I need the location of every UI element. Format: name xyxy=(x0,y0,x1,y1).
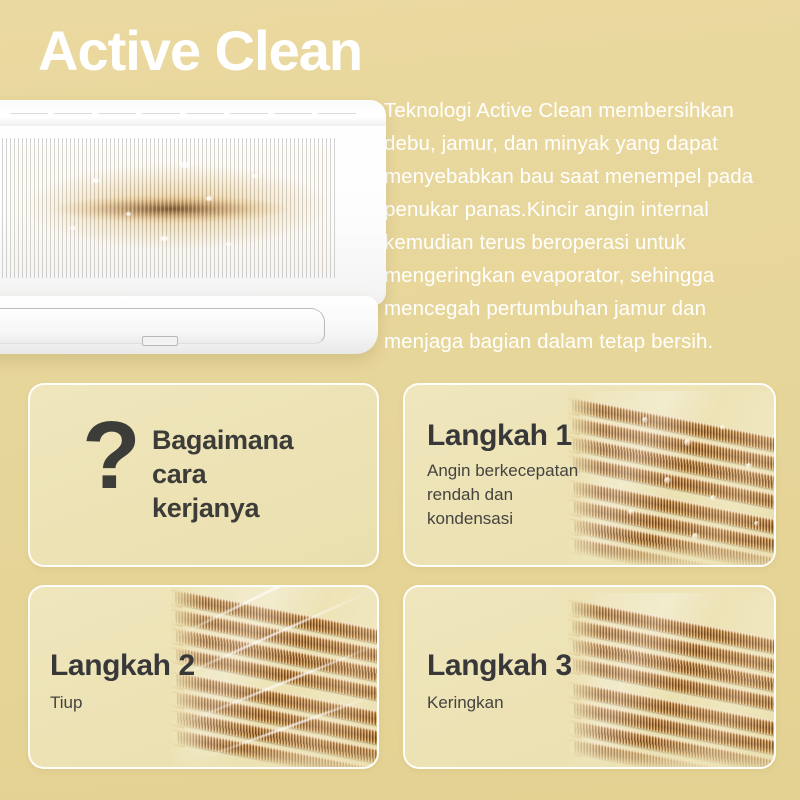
step-2-description: Tiup xyxy=(50,691,200,715)
how-line-2: cara xyxy=(152,457,293,491)
how-line-3: kerjanya xyxy=(152,491,293,525)
ac-dust-speck xyxy=(160,236,168,241)
condensation-droplet xyxy=(692,533,699,540)
ac-grille-overlay xyxy=(12,146,330,272)
card-how-it-works[interactable]: ? Bagaimana cara kerjanya xyxy=(28,383,379,567)
coil-stack xyxy=(175,589,379,769)
condensation-droplet xyxy=(642,417,648,423)
question-mark-icon: ? xyxy=(82,413,141,499)
ac-dust-speck xyxy=(226,242,231,246)
step-3-description: Keringkan xyxy=(427,691,597,715)
ac-dust-speck xyxy=(180,162,189,168)
ac-unit-body xyxy=(0,100,386,306)
ac-top-vent xyxy=(0,100,386,126)
ac-dust-speck xyxy=(126,212,131,216)
coil-stack xyxy=(572,397,776,567)
condensation-droplet xyxy=(684,439,691,446)
how-line-1: Bagaimana xyxy=(152,423,293,457)
step-3-title: Langkah 3 xyxy=(427,649,572,683)
condensation-droplet xyxy=(710,495,716,501)
condensation-droplet xyxy=(720,425,725,430)
page-title: Active Clean xyxy=(38,22,362,81)
card-step-1[interactable]: Langkah 1 Angin berkecepatan rendah dan … xyxy=(403,383,776,567)
hero-description: Teknologi Active Clean membersihkan debu… xyxy=(384,94,776,358)
ac-unit-louver-panel xyxy=(0,296,378,354)
step-1-description: Angin berkecepatan rendah dan kondensasi xyxy=(427,459,587,531)
condensation-droplet xyxy=(746,463,752,469)
ac-dust-speck xyxy=(206,196,212,201)
step-2-title: Langkah 2 xyxy=(50,649,195,683)
ac-dust-speck xyxy=(92,178,99,183)
air-conditioner-illustration xyxy=(0,100,386,362)
coil-stack xyxy=(572,599,776,769)
condensation-droplet xyxy=(664,477,671,484)
ac-dust-speck xyxy=(70,226,76,230)
card-step-3[interactable]: Langkah 3 Keringkan xyxy=(403,585,776,769)
coil-image-step-1 xyxy=(568,391,776,567)
condensation-droplet xyxy=(754,521,759,526)
coil-image-step-3 xyxy=(568,593,776,769)
coil-image-step-2 xyxy=(171,585,379,769)
ac-indicator-tab xyxy=(142,336,178,346)
card-step-2[interactable]: Langkah 2 Tiup xyxy=(28,585,379,769)
how-it-works-heading: Bagaimana cara kerjanya xyxy=(152,423,293,525)
active-clean-poster: Active Clean Teknologi Active Clean memb… xyxy=(0,0,800,800)
condensation-droplet xyxy=(628,509,634,515)
step-1-title: Langkah 1 xyxy=(427,419,572,453)
ac-dust-speck xyxy=(252,174,258,178)
